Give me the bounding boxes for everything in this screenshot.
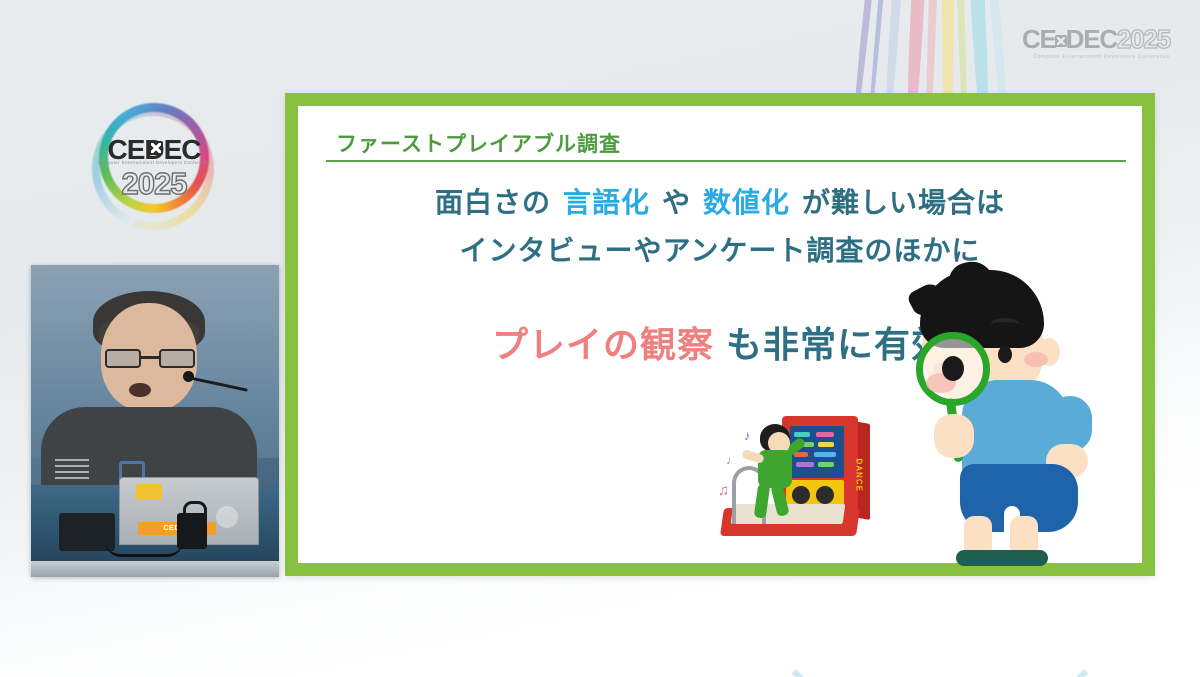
corner-logo-ce: CE (1022, 24, 1056, 54)
corner-logo-year: 2025 (1117, 24, 1170, 54)
corner-logo-dec: DEC (1066, 24, 1117, 54)
boy-eyebrow (990, 318, 1020, 332)
line1-part2: や (662, 187, 691, 218)
cedec-corner-logo: CEDEC2025 Computer Entertainment Develop… (1022, 26, 1170, 60)
cedec-ring-logo: CEDEC Computer Entertainment Developers … (88, 108, 220, 220)
music-note-icon-3: ♫ (718, 482, 729, 499)
arcade-machine-illustration: ♪ ♩ ♫ DANCE (716, 404, 876, 554)
boy-shoes (956, 550, 1048, 566)
laptop-sticker-yellow (136, 484, 162, 500)
boy-eye (998, 346, 1012, 363)
music-note-icon-2: ♩ (726, 452, 739, 467)
logo-subtitle: Computer Entertainment Developers Confer… (88, 160, 220, 165)
slide-body-line-2: インタビューやアンケート調査のほかに (298, 229, 1142, 269)
desk-front-edge (31, 561, 279, 577)
speaker-mouth (129, 383, 151, 397)
speaker-glasses-icon (105, 349, 195, 368)
glasses-lens-right (159, 349, 195, 368)
presentation-stage: CEDEC Computer Entertainment Developers … (0, 0, 1200, 677)
music-note-icon-1: ♪ (744, 428, 751, 443)
boy-blush-right (1024, 352, 1048, 367)
line1-part1: 面白さの (435, 187, 551, 218)
logo-text-year: 2025 (88, 166, 220, 202)
speaker-camera-feed[interactable]: CEDEC (31, 265, 279, 577)
boy-hand (934, 414, 974, 458)
arcade-side-text: DANCE (855, 459, 864, 479)
arcade-speaker-left (792, 486, 810, 504)
presentation-slide: ファーストプレイアブル調査 面白さの言語化や数値化が難しい場合は インタビューや… (285, 93, 1155, 576)
glasses-lens-left (105, 349, 141, 368)
line1-part3: が難しい場合は (802, 187, 1005, 218)
slide-body-line-1: 面白さの言語化や数値化が難しい場合は (298, 181, 1142, 221)
line3-highlight: プレイの観察 (492, 324, 714, 365)
logo-x-mark-icon (149, 141, 163, 155)
line1-highlight-1: 言語化 (563, 187, 650, 218)
laptop-brand-mark (216, 506, 238, 528)
arcade-screen (790, 426, 844, 478)
slide-heading-rule (326, 160, 1126, 162)
arcade-speaker-right (816, 486, 834, 504)
desk-cable (105, 541, 183, 557)
corner-logo-subtitle: Computer Entertainment Developers Confer… (1022, 54, 1170, 60)
boy-with-magnifier-illustration (898, 268, 1098, 568)
corner-logo-x-mark-icon (1055, 35, 1067, 47)
magnified-eye (942, 356, 964, 381)
line1-highlight-2: 数値化 (703, 187, 790, 218)
slide-inner: ファーストプレイアブル調査 面白さの言語化や数値化が難しい場合は インタビューや… (298, 106, 1142, 563)
glasses-bridge (141, 356, 159, 359)
corner-logo-wordmark: CEDEC2025 (1022, 26, 1170, 52)
slide-heading: ファーストプレイアブル調査 (336, 128, 621, 158)
shirt-print (55, 459, 89, 483)
